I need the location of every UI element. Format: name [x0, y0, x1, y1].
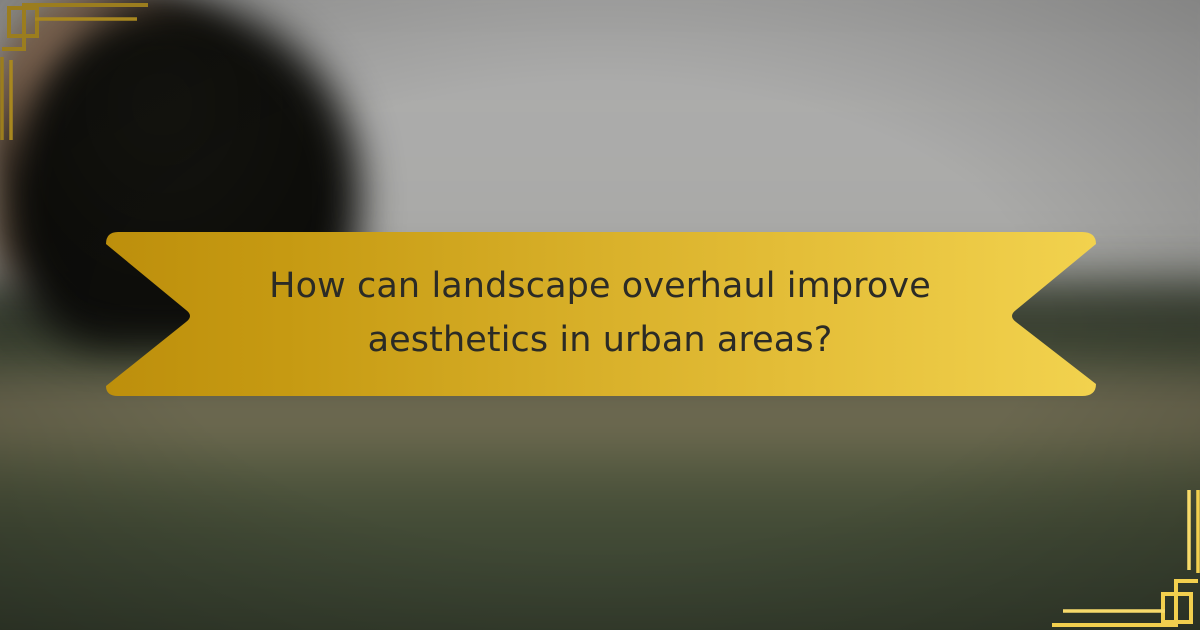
ribbon-banner: How can landscape overhaul improve aesth… [104, 224, 1096, 404]
banner-card: How can landscape overhaul improve aesth… [0, 0, 1200, 630]
banner-headline-line-1: How can landscape overhaul improve [269, 262, 931, 312]
banner-headline-line-2: aesthetics in urban areas? [368, 316, 833, 366]
ribbon-text-block: How can landscape overhaul improve aesth… [104, 224, 1096, 404]
